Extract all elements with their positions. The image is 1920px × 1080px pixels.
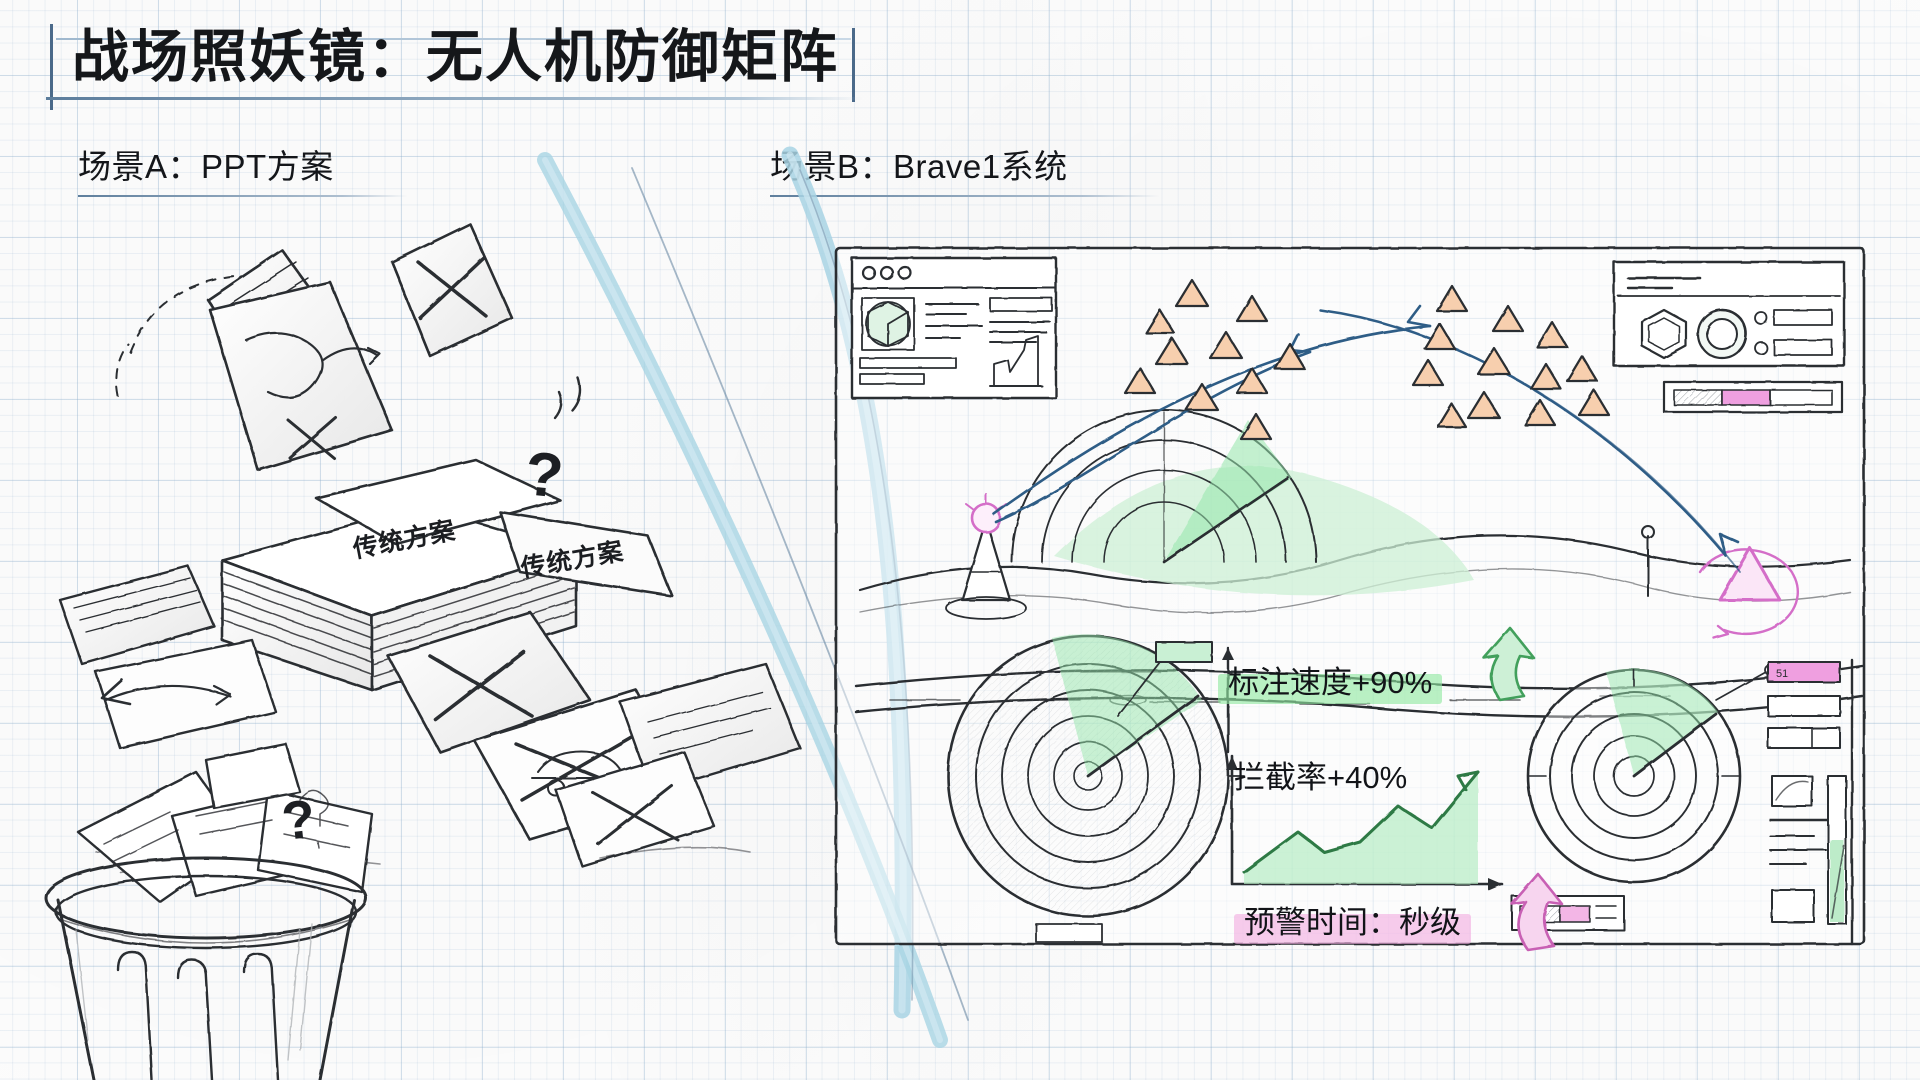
annotation-intercept-text: 拦截率+40% bbox=[1228, 750, 1413, 800]
metrics-panel bbox=[1614, 262, 1844, 366]
annotation-label-intercept: 拦截率+40% bbox=[1228, 750, 1413, 800]
browser-window-mockup bbox=[852, 258, 1056, 398]
annotation-label-warning-time: 预警时间：秒级 bbox=[1238, 895, 1467, 945]
svg-text:51: 51 bbox=[1776, 668, 1788, 680]
donut-gauge bbox=[1698, 310, 1746, 358]
progress-bar bbox=[1664, 382, 1842, 412]
scene-b-dashboard: 51 bbox=[0, 0, 1920, 1080]
sidebar-list: 51 bbox=[1768, 660, 1852, 944]
annotation-warning-text: 预警时间：秒级 bbox=[1238, 895, 1467, 945]
annotation-label-speed: 标注速度+90% bbox=[1222, 655, 1438, 705]
annotation-speed-text: 标注速度+90% bbox=[1222, 655, 1438, 705]
